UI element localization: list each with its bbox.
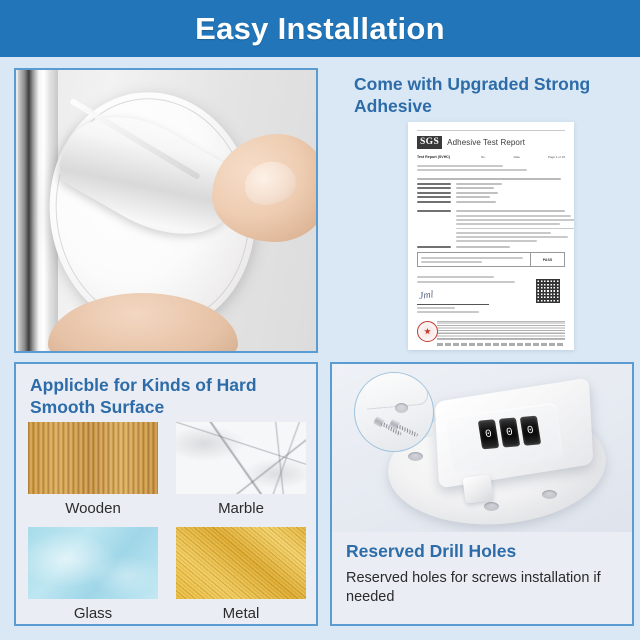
document-intro-line — [417, 178, 561, 180]
panel-surfaces: Applicble for Kinds of Hard Smooth Surfa… — [14, 362, 318, 626]
sgs-logo: SGS — [417, 136, 442, 149]
document-signature-area: Jml — [417, 276, 565, 313]
signature-mark: Jml — [418, 289, 434, 302]
page-header: Easy Installation — [0, 0, 640, 57]
surface-item-metal: Metal — [176, 527, 306, 626]
drill-holes-heading: Reserved Drill Holes — [346, 540, 618, 562]
panel-adhesive-report: Come with Upgraded Strong Adhesive SGS A… — [330, 60, 640, 355]
document-meta-no: No. — [481, 155, 486, 159]
marble-swatch — [176, 422, 306, 494]
surface-item-wooden: Wooden — [28, 422, 158, 522]
wooden-swatch — [28, 422, 158, 494]
surface-item-marble: Marble — [176, 422, 306, 522]
metal-swatch — [176, 527, 306, 599]
marble-label: Marble — [218, 500, 264, 517]
drill-hole-icon — [484, 502, 499, 511]
lock-latch-graphic — [463, 474, 494, 503]
document-meta-row: Test Report (SVHC) No. Date Page 1 of 15 — [417, 155, 565, 160]
signature-rule — [417, 304, 489, 305]
combination-dial-strip: 0 0 0 — [478, 416, 541, 450]
document-title: Adhesive Test Report — [447, 138, 525, 147]
screw-callout-bubble — [354, 372, 434, 452]
surface-swatch-grid: Wooden Marble Glass Metal — [28, 422, 306, 626]
glass-swatch — [28, 527, 158, 599]
surfaces-heading: Applicble for Kinds of Hard Smooth Surfa… — [30, 374, 295, 419]
combination-lock-photo: 0 0 0 — [332, 364, 632, 532]
drill-holes-body: Reserved holes for screws installation i… — [346, 569, 618, 607]
certification-seal-icon — [417, 321, 438, 342]
document-footer-fine-print — [437, 343, 565, 346]
panel-adhesive-photo — [14, 68, 318, 353]
combination-dial-1: 0 — [478, 419, 500, 449]
document-result-verdict: PASS — [530, 253, 564, 266]
drill-hole-icon — [408, 452, 423, 461]
document-meta-page: Page 1 of 15 — [548, 155, 565, 159]
metal-label: Metal — [223, 605, 260, 622]
document-results-row — [417, 246, 565, 248]
adhesive-report-heading: Come with Upgraded Strong Adhesive — [354, 73, 624, 118]
drill-holes-text-block: Reserved Drill Holes Reserved holes for … — [346, 540, 618, 607]
surface-item-glass: Glass — [28, 527, 158, 626]
drill-hole-icon — [542, 490, 557, 499]
document-sample-fields — [417, 183, 565, 203]
document-footer-band — [417, 320, 565, 346]
document-method-block — [417, 210, 565, 242]
sgs-test-report-document: SGS Adhesive Test Report Test Report (SV… — [408, 122, 574, 350]
document-footer-text-block — [437, 321, 565, 340]
callout-drill-hole-icon — [395, 403, 408, 413]
document-top-rule — [417, 130, 565, 131]
panel-drill-holes: 0 0 0 Reserved Drill Holes Reserved hole… — [330, 362, 634, 626]
document-address-block — [417, 165, 565, 171]
qr-code-icon — [535, 278, 561, 304]
glass-label: Glass — [74, 605, 112, 622]
page-title: Easy Installation — [195, 11, 445, 47]
document-result-box: PASS — [417, 252, 565, 267]
document-header-row: SGS Adhesive Test Report — [417, 136, 565, 149]
document-meta-label: Test Report (SVHC) — [417, 155, 453, 160]
wooden-label: Wooden — [65, 500, 121, 517]
document-meta-date: Date — [514, 155, 520, 159]
combination-dial-2: 0 — [499, 417, 521, 447]
document-result-summary — [418, 253, 530, 266]
adhesive-peel-photo — [16, 70, 316, 351]
